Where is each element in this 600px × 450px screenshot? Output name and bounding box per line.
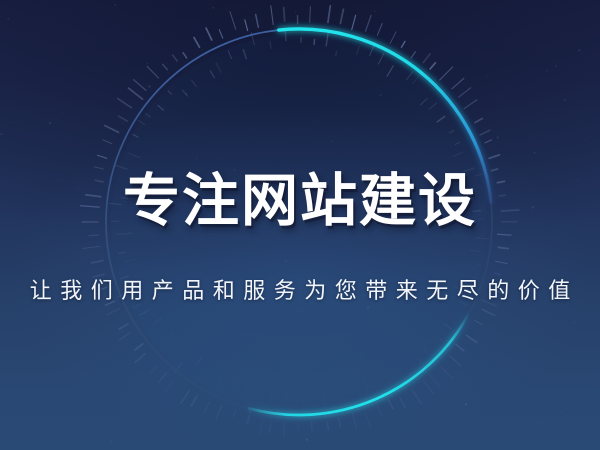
page-title: 专注网站建设 [0, 166, 600, 236]
tech-ring-graphic [0, 0, 600, 450]
ring-inner-fill [111, 34, 487, 410]
hero-banner: 专注网站建设 让我们用产品和服务为您带来无尽的价值 [0, 0, 600, 450]
page-subtitle: 让我们用产品和服务为您带来无尽的价值 [0, 276, 600, 306]
ring-outline-dim [106, 29, 492, 415]
background-specks [0, 4, 587, 442]
background-vignette [0, 0, 600, 450]
ring-accent-arc-bottom [249, 313, 469, 415]
banner-content: 专注网站建设 让我们用产品和服务为您带来无尽的价值 [0, 0, 600, 450]
ring-tick-marks-outer [81, 6, 519, 437]
tech-ring-svg [0, 0, 600, 450]
ring-accent-arc-top [279, 29, 491, 202]
ring-tick-marks-inner [109, 30, 489, 417]
